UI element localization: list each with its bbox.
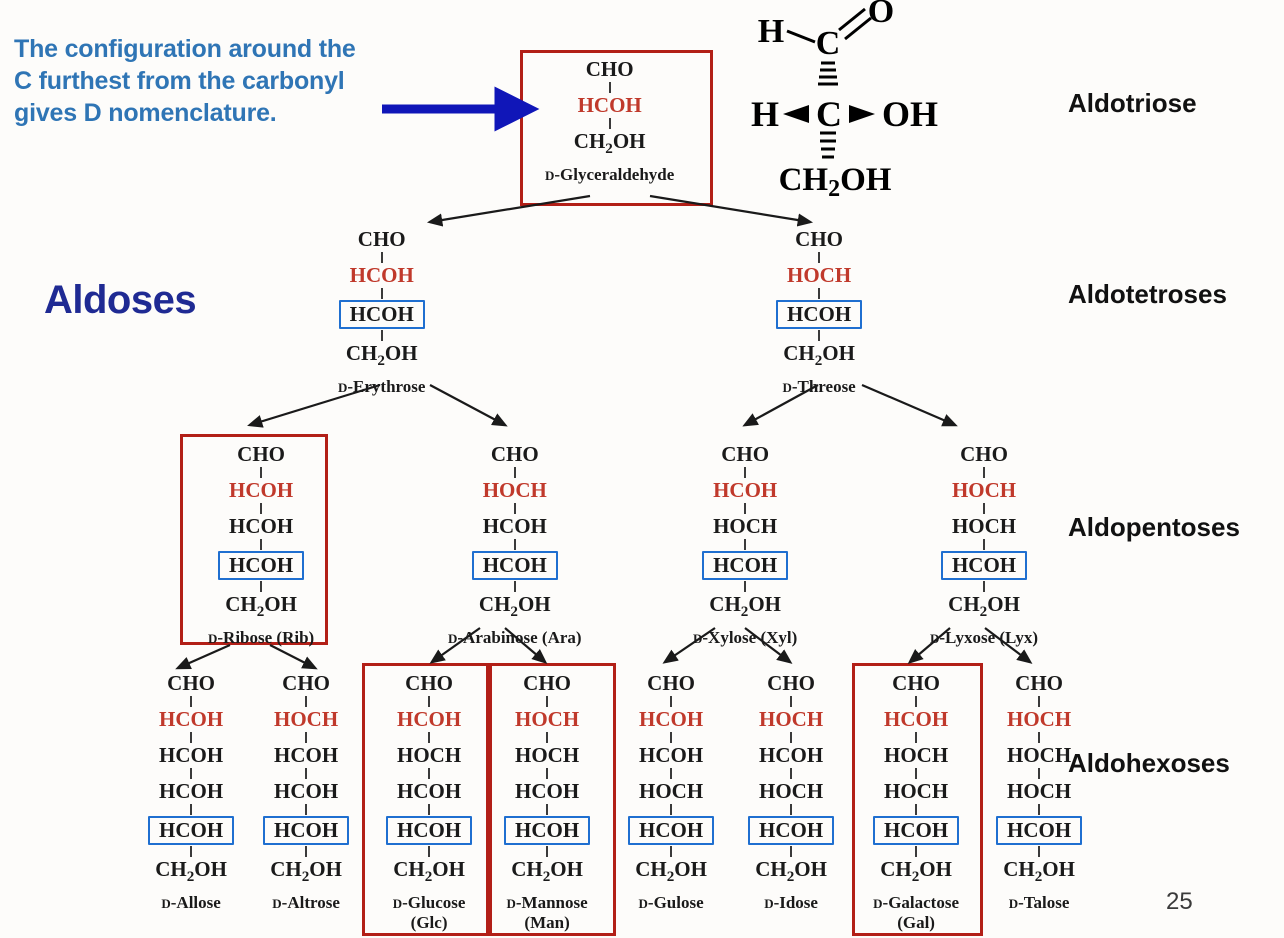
stereocenter-highlight-d-mannose: HCOH [504,816,590,845]
atom-group: CHO [277,672,335,695]
atom-group: HOCH [634,780,708,803]
bond-line [381,288,383,299]
atom-group: HCOH [224,515,298,538]
atom-group: HCOH [478,515,552,538]
bond-line [546,846,548,857]
molecule-d-talose: CHOHOCHHOCHHOCHHCOHCH2OHD-Talose [996,672,1082,913]
bond-line [915,846,917,857]
atom-group: HCOH [392,708,466,731]
molecule-d-erythrose: CHOHCOHHCOHCH2OHD-Erythrose [338,228,425,397]
molecule-d-xylose: CHOHCOHHOCHHCOHCH2OHD-Xylose (Xyl) [693,443,797,648]
atom-group: HOCH [947,479,1021,502]
stereocenter-highlight-d-altrose: HCOH [263,816,349,845]
bond-line [1038,732,1040,743]
molecule-label-d-gulose: D-Gulose [628,893,714,913]
row-label-aldotriose: Aldotriose [1068,88,1197,119]
atom-group: CH2OH [943,593,1025,621]
stereocenter-highlight-d-glucose: HCOH [386,816,472,845]
atom-group: HOCH [1002,780,1076,803]
molecule-d-lyxose: CHOHOCHHOCHHCOHCH2OHD-Lyxose (Lyx) [930,443,1038,648]
stereo-carbonyl-c-label: C [816,25,841,62]
bond-line [744,581,746,592]
atom-group: HCOH [224,479,298,502]
atom-group: CHO [353,228,411,251]
atom-group: CH2OH [388,858,470,886]
atom-group: HCOH [154,744,228,767]
row-label-aldotetroses: Aldotetroses [1068,279,1227,310]
molecule-d-gulose: CHOHCOHHCOHHOCHHCOHCH2OHD-Gulose [628,672,714,913]
molecule-label-d-glucose: D-Glucose(Glc) [386,893,472,932]
bond-line [744,467,746,478]
atom-group: HOCH [782,264,856,287]
bond-line [1038,696,1040,707]
bond-line [514,539,516,550]
fischer-chain: CHOHOCHHCOHCH2OH [776,228,862,370]
stereocenter-highlight-d-allose: HCOH [148,816,234,845]
atom-group: HCOH [269,780,343,803]
atom-group: CH2OH [630,858,712,886]
atom-group: HCOH [634,708,708,731]
atom-group: HOCH [1002,708,1076,731]
atom-group: HCOH [154,708,228,731]
atom-group: CH2OH [998,858,1080,886]
bond-line [1038,846,1040,857]
bond-line [609,82,611,93]
atom-group: HCOH [345,264,419,287]
bond-line [744,503,746,514]
molecule-d-threose: CHOHOCHHCOHCH2OHD-Threose [776,228,862,397]
atom-group: HOCH [754,780,828,803]
fischer-chain: CHOHCOHHCOHHCOHHCOHCH2OH [148,672,234,886]
atom-group: HOCH [754,708,828,731]
branch-arrow-7 [270,645,315,668]
branch-arrow-0 [430,196,590,222]
atom-group: HOCH [392,744,466,767]
stereocenter-highlight-d-galactose: HCOH [873,816,959,845]
bond-line [983,503,985,514]
branch-arrow-3 [430,385,505,425]
stereocenter-highlight-d-xylose: HCOH [702,551,788,580]
bond-line [609,118,611,129]
bond-line [190,804,192,815]
fischer-chain: CHOHOCHHOCHHCOHHCOHCH2OH [504,672,590,886]
stereo-right-oh-label: OH [882,94,938,134]
atom-group: HCOH [510,780,584,803]
bond-line [305,768,307,779]
bond-line [790,846,792,857]
bond-line [915,804,917,815]
bond-line [818,330,820,341]
molecule-label-d-idose: D-Idose [748,893,834,913]
bond-line [305,804,307,815]
atom-group: HOCH [947,515,1021,538]
bond-line [190,732,192,743]
atom-group: HOCH [1002,744,1076,767]
bond-line [670,732,672,743]
bond-line [818,288,820,299]
glyceraldehyde-3d-structure: H C O H C OH CH2OH [735,0,985,200]
bond-line [546,768,548,779]
atom-group: HOCH [708,515,782,538]
stereocenter-highlight-d-idose: HCOH [748,816,834,845]
molecule-label-d-erythrose: D-Erythrose [338,377,425,397]
stereo-carbonyl-o-label: O [868,0,894,30]
atom-group: CH2OH [704,593,786,621]
bond-line [1038,768,1040,779]
molecule-label-d-lyxose: D-Lyxose (Lyx) [930,628,1038,648]
bond-line [428,732,430,743]
bond-line [428,846,430,857]
molecule-label-d-altrose: D-Altrose [263,893,349,913]
atom-group: CHO [1010,672,1068,695]
molecule-label-d-allose: D-Allose [148,893,234,913]
atom-group: HCOH [708,479,782,502]
molecule-label-d-glyceraldehyde: D-Glyceraldehyde [545,165,674,185]
atom-group: CH2OH [778,342,860,370]
page-title: Aldoses [44,278,196,323]
stereocenter-highlight-d-lyxose: HCOH [941,551,1027,580]
atom-group: CH2OH [150,858,232,886]
molecule-d-galactose: CHOHCOHHOCHHOCHHCOHCH2OHD-Galactose(Gal) [873,672,959,932]
atom-group: HCOH [154,780,228,803]
bond-line [983,467,985,478]
atom-group: CHO [716,443,774,466]
molecule-label-d-ribose: D-Ribose (Rib) [208,628,314,648]
branch-arrow-6 [178,645,230,668]
bond-line [260,581,262,592]
fischer-chain: CHOHOCHHCOHHCOHCH2OH [448,443,582,621]
molecule-d-idose: CHOHOCHHCOHHOCHHCOHCH2OHD-Idose [748,672,834,913]
stereocenter-highlight-d-threose: HCOH [776,300,862,329]
annotation-text: The configuration around the C furthest … [14,33,374,129]
bond-line [790,732,792,743]
stereo-left-h-label: H [751,94,779,134]
molecule-d-ribose: CHOHCOHHCOHHCOHCH2OHD-Ribose (Rib) [208,443,314,648]
atom-group: CHO [518,672,576,695]
atom-group: CH2OH [875,858,957,886]
molecule-d-glyceraldehyde: CHOHCOHCH2OHD-Glyceraldehyde [545,58,674,185]
bond-line [790,804,792,815]
bond-line [305,732,307,743]
bond-line [514,467,516,478]
atom-group: HCOH [634,744,708,767]
bond-line [915,696,917,707]
bond-line [305,696,307,707]
bond-line [744,539,746,550]
atom-group: CHO [162,672,220,695]
molecule-d-allose: CHOHCOHHCOHHCOHHCOHCH2OHD-Allose [148,672,234,913]
atom-group: HCOH [754,744,828,767]
molecule-label-d-mannose: D-Mannose(Man) [504,893,590,932]
bond-line [670,696,672,707]
stereo-ch2oh-label: CH2OH [779,162,892,200]
bond-line [514,503,516,514]
row-label-aldopentoses: Aldopentoses [1068,512,1240,543]
bond-line [818,252,820,263]
bond-line [670,768,672,779]
stereocenter-highlight-d-erythrose: HCOH [339,300,425,329]
atom-group: CHO [762,672,820,695]
bond-line [915,732,917,743]
atom-group: CHO [400,672,458,695]
molecule-label-d-threose: D-Threose [776,377,862,397]
molecule-label-d-xylose: D-Xylose (Xyl) [693,628,797,648]
atom-group: HCOH [573,94,647,117]
bond-line [514,581,516,592]
molecule-d-mannose: CHOHOCHHOCHHCOHHCOHCH2OHD-Mannose(Man) [504,672,590,932]
fischer-chain: CHOHCOHHCOHHCOHCH2OH [208,443,314,621]
atom-group: CH2OH [265,858,347,886]
molecule-d-arabinose: CHOHOCHHCOHHCOHCH2OHD-Arabinose (Ara) [448,443,582,648]
stereocenter-highlight-d-ribose: HCOH [218,551,304,580]
atom-group: HCOH [269,744,343,767]
atom-group: HOCH [510,744,584,767]
molecule-d-altrose: CHOHOCHHCOHHCOHHCOHCH2OHD-Altrose [263,672,349,913]
bond-line [381,330,383,341]
branch-arrow-5 [862,385,955,425]
fischer-chain: CHOHOCHHCOHHCOHHCOHCH2OH [263,672,349,886]
atom-group: CHO [232,443,290,466]
bond-line [260,503,262,514]
fischer-chain: CHOHCOHHOCHHCOHCH2OH [693,443,797,621]
bond-line [546,732,548,743]
atom-group: HOCH [478,479,552,502]
atom-group: CH2OH [341,342,423,370]
fischer-chain: CHOHCOHHCOHHOCHHCOHCH2OH [628,672,714,886]
bond-line [190,696,192,707]
bond-line [915,768,917,779]
bond-line [1038,804,1040,815]
bond-line [670,804,672,815]
stereo-top-h-label: H [758,13,784,50]
bond-line [670,846,672,857]
fischer-chain: CHOHCOHCH2OH [545,58,674,158]
molecule-label-d-galactose: D-Galactose(Gal) [873,893,959,932]
fischer-chain: CHOHCOHHOCHHOCHHCOHCH2OH [873,672,959,886]
bond-line [790,696,792,707]
bond-line [790,768,792,779]
atom-group: CH2OH [220,593,302,621]
atom-group: CHO [581,58,639,81]
atom-group: CHO [642,672,700,695]
bond-line [305,846,307,857]
molecule-label-d-arabinose: D-Arabinose (Ara) [448,628,582,648]
bond-line [428,696,430,707]
atom-group: HCOH [879,708,953,731]
molecule-label-d-talose: D-Talose [996,893,1082,913]
atom-group: HOCH [510,708,584,731]
fischer-chain: CHOHOCHHOCHHCOHCH2OH [930,443,1038,621]
bond-line [260,467,262,478]
bond-line [428,804,430,815]
bond-line [260,539,262,550]
bond-line [190,846,192,857]
atom-group: CHO [887,672,945,695]
fischer-chain: CHOHCOHHOCHHCOHHCOHCH2OH [386,672,472,886]
bond-line [546,804,548,815]
fischer-chain: CHOHCOHHCOHCH2OH [338,228,425,370]
stereocenter-highlight-d-talose: HCOH [996,816,1082,845]
bond-line [983,581,985,592]
bond-line [546,696,548,707]
atom-group: CH2OH [506,858,588,886]
atom-group: HOCH [879,780,953,803]
bond-line [983,539,985,550]
stereocenter-highlight-d-arabinose: HCOH [472,551,558,580]
fischer-chain: CHOHOCHHOCHHOCHHCOHCH2OH [996,672,1082,886]
atom-group: CH2OH [474,593,556,621]
fischer-chain: CHOHOCHHCOHHOCHHCOHCH2OH [748,672,834,886]
stereocenter-highlight-d-gulose: HCOH [628,816,714,845]
molecule-d-glucose: CHOHCOHHOCHHCOHHCOHCH2OHD-Glucose(Glc) [386,672,472,932]
atom-group: CHO [486,443,544,466]
atom-group: CHO [955,443,1013,466]
atom-group: HOCH [269,708,343,731]
atom-group: CH2OH [569,130,651,158]
atom-group: HCOH [392,780,466,803]
bond-line [190,768,192,779]
atom-group: CH2OH [750,858,832,886]
atom-group: HOCH [879,744,953,767]
slide-number: 25 [1166,888,1193,916]
bond-line [428,768,430,779]
stereo-center-c-label: C [816,94,842,134]
bond-line [381,252,383,263]
row-label-aldohexoses: Aldohexoses [1068,748,1230,779]
atom-group: CHO [790,228,848,251]
